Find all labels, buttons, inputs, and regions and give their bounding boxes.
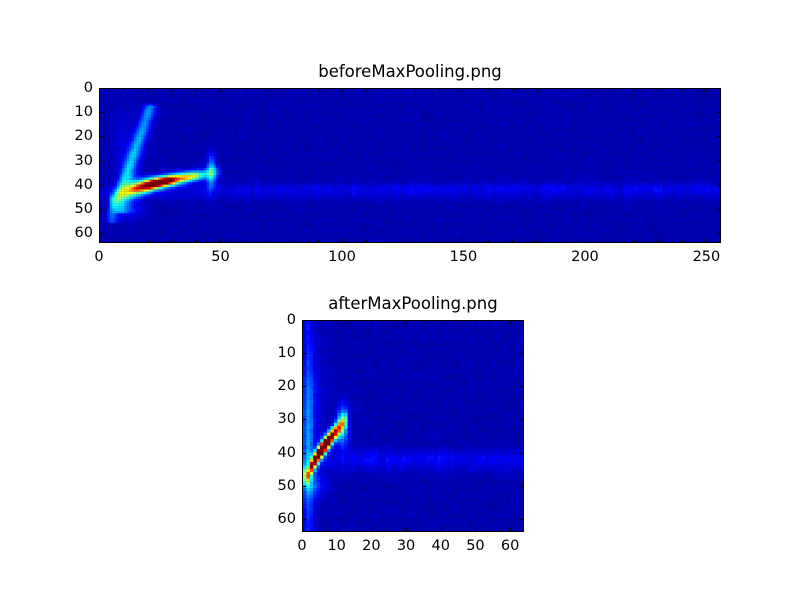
ytick-mark <box>717 185 721 186</box>
ytick-label: 10 <box>278 346 296 361</box>
xtick-label: 10 <box>327 539 345 554</box>
xtick-minor-mark <box>148 240 149 243</box>
xtick-mark <box>342 239 343 243</box>
ytick-label: 60 <box>278 512 296 527</box>
ytick-label: 0 <box>84 81 93 96</box>
xtick-label: 0 <box>94 250 103 265</box>
xtick-minor-mark <box>391 240 392 243</box>
xtick-minor-mark <box>172 240 173 243</box>
xtick-minor-mark <box>245 88 246 91</box>
ytick-label: 40 <box>278 445 296 460</box>
ytick-mark <box>99 112 103 113</box>
matplotlib-figure: beforeMaxPooling.png 0102030405060050100… <box>0 0 800 600</box>
ytick-mark <box>302 386 306 387</box>
heatmap-image-after <box>303 321 523 531</box>
ytick-mark <box>520 519 524 520</box>
xtick-minor-mark <box>123 240 124 243</box>
xtick-label: 40 <box>432 539 450 554</box>
ytick-mark <box>302 519 306 520</box>
xtick-minor-mark <box>439 240 440 243</box>
xtick-minor-mark <box>366 88 367 91</box>
ytick-mark <box>99 185 103 186</box>
xtick-minor-mark <box>293 88 294 91</box>
xtick-minor-mark <box>561 88 562 91</box>
xtick-minor-mark <box>682 88 683 91</box>
xtick-label: 50 <box>466 539 484 554</box>
xtick-minor-mark <box>415 240 416 243</box>
xtick-minor-mark <box>561 240 562 243</box>
heatmap-axes-before <box>99 88 721 243</box>
xtick-mark <box>220 239 221 243</box>
xtick-mark <box>475 528 476 532</box>
xtick-minor-mark <box>658 88 659 91</box>
xtick-label: 50 <box>211 250 229 265</box>
ytick-mark <box>99 233 103 234</box>
ytick-mark <box>717 209 721 210</box>
axes-title-after: afterMaxPooling.png <box>302 296 524 313</box>
heatmap-image-before <box>100 89 720 242</box>
ytick-mark <box>717 161 721 162</box>
xtick-mark <box>337 528 338 532</box>
xtick-minor-mark <box>366 240 367 243</box>
xtick-mark <box>371 528 372 532</box>
xtick-mark <box>99 88 100 92</box>
xtick-minor-mark <box>196 240 197 243</box>
ytick-label: 50 <box>75 202 93 217</box>
ytick-mark <box>717 112 721 113</box>
xtick-mark <box>220 88 221 92</box>
xtick-minor-mark <box>318 240 319 243</box>
xtick-minor-mark <box>269 88 270 91</box>
xtick-minor-mark <box>318 88 319 91</box>
ytick-mark <box>302 419 306 420</box>
xtick-minor-mark <box>293 240 294 243</box>
ytick-mark <box>302 353 306 354</box>
xtick-mark <box>99 239 100 243</box>
ytick-label: 10 <box>75 105 93 120</box>
xtick-minor-mark <box>609 88 610 91</box>
xtick-mark <box>706 239 707 243</box>
xtick-minor-mark <box>488 88 489 91</box>
ytick-mark <box>520 320 524 321</box>
ytick-label: 20 <box>278 379 296 394</box>
xtick-minor-mark <box>536 88 537 91</box>
xtick-minor-mark <box>123 88 124 91</box>
ytick-mark <box>99 161 103 162</box>
xtick-label: 100 <box>328 250 356 265</box>
xtick-minor-mark <box>196 88 197 91</box>
xtick-mark <box>441 528 442 532</box>
xtick-label: 30 <box>397 539 415 554</box>
xtick-minor-mark <box>391 88 392 91</box>
xtick-mark <box>585 239 586 243</box>
ytick-label: 30 <box>278 412 296 427</box>
xtick-label: 250 <box>693 250 721 265</box>
axes-title-before: beforeMaxPooling.png <box>99 64 721 81</box>
xtick-minor-mark <box>439 88 440 91</box>
xtick-label: 200 <box>571 250 599 265</box>
xtick-mark <box>406 528 407 532</box>
xtick-minor-mark <box>634 240 635 243</box>
ytick-label: 60 <box>75 226 93 241</box>
xtick-mark <box>475 320 476 324</box>
xtick-minor-mark <box>682 240 683 243</box>
xtick-minor-mark <box>634 88 635 91</box>
xtick-mark <box>302 320 303 324</box>
xtick-mark <box>302 528 303 532</box>
xtick-label: 150 <box>450 250 478 265</box>
xtick-mark <box>337 320 338 324</box>
ytick-mark <box>520 353 524 354</box>
ytick-mark <box>302 486 306 487</box>
xtick-label: 0 <box>297 539 306 554</box>
ytick-label: 0 <box>287 313 296 328</box>
ytick-mark <box>520 453 524 454</box>
ytick-label: 40 <box>75 178 93 193</box>
xtick-minor-mark <box>512 88 513 91</box>
xtick-mark <box>371 320 372 324</box>
ytick-mark <box>717 88 721 89</box>
xtick-mark <box>585 88 586 92</box>
xtick-minor-mark <box>488 240 489 243</box>
xtick-mark <box>510 320 511 324</box>
ytick-mark <box>99 209 103 210</box>
xtick-mark <box>342 88 343 92</box>
xtick-minor-mark <box>512 240 513 243</box>
xtick-minor-mark <box>148 88 149 91</box>
xtick-mark <box>706 88 707 92</box>
ytick-mark <box>520 386 524 387</box>
xtick-minor-mark <box>172 88 173 91</box>
ytick-label: 50 <box>278 478 296 493</box>
xtick-label: 20 <box>362 539 380 554</box>
xtick-minor-mark <box>658 240 659 243</box>
heatmap-axes-after <box>302 320 524 532</box>
xtick-mark <box>463 88 464 92</box>
ytick-mark <box>302 453 306 454</box>
xtick-mark <box>441 320 442 324</box>
ytick-mark <box>717 233 721 234</box>
xtick-label: 60 <box>501 539 519 554</box>
xtick-minor-mark <box>536 240 537 243</box>
xtick-minor-mark <box>415 88 416 91</box>
xtick-mark <box>510 528 511 532</box>
xtick-minor-mark <box>269 240 270 243</box>
xtick-mark <box>406 320 407 324</box>
ytick-mark <box>717 136 721 137</box>
ytick-mark <box>99 136 103 137</box>
xtick-mark <box>463 239 464 243</box>
ytick-label: 30 <box>75 153 93 168</box>
ytick-mark <box>520 419 524 420</box>
xtick-minor-mark <box>245 240 246 243</box>
ytick-mark <box>520 486 524 487</box>
ytick-label: 20 <box>75 129 93 144</box>
xtick-minor-mark <box>609 240 610 243</box>
